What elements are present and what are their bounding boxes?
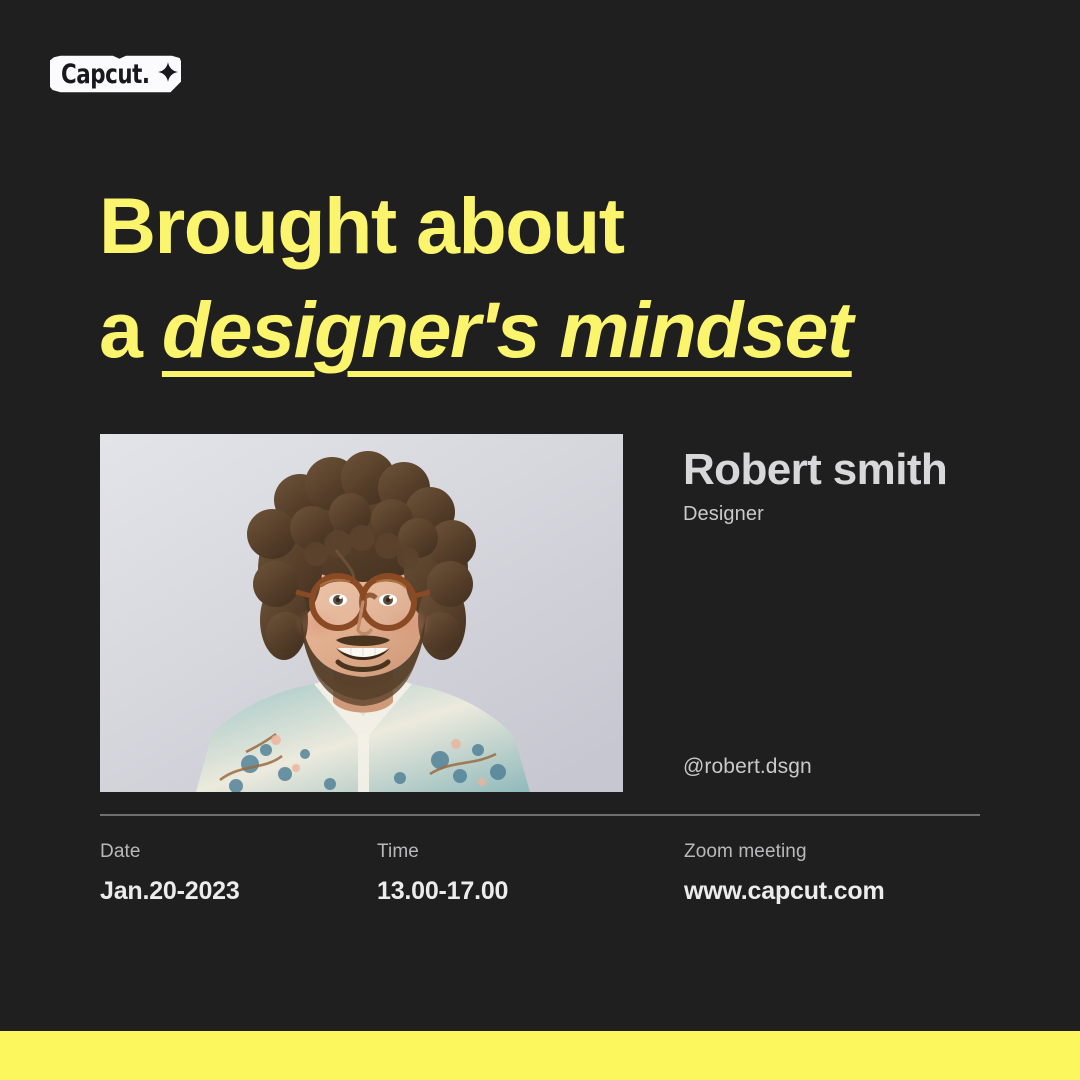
bottom-accent-bar xyxy=(0,1031,1080,1080)
info-column-date: Date Jan.20-2023 xyxy=(100,841,377,906)
speaker-handle[interactable]: @robert.dsgn xyxy=(683,755,812,779)
sparkle-star-icon xyxy=(158,62,178,87)
capcut-logo-badge[interactable]: Capcut. xyxy=(50,55,181,93)
info-value-date: Jan.20-2023 xyxy=(100,876,377,906)
event-poster: Capcut. Brought about a designer's minds… xyxy=(0,0,1080,1080)
capcut-wordmark: Capcut. xyxy=(61,61,150,88)
headline-line-1: Brought about xyxy=(99,170,979,282)
headline-line-2: a designer's mindset xyxy=(99,274,979,386)
speaker-portrait xyxy=(100,434,623,792)
speaker-role: Designer xyxy=(683,503,1003,526)
speaker-name: Robert smith xyxy=(683,446,1003,494)
info-divider xyxy=(100,814,980,816)
info-label-zoom-meeting: Zoom meeting xyxy=(684,841,980,864)
info-value-zoom-meeting[interactable]: www.capcut.com xyxy=(684,876,980,906)
info-label-time: Time xyxy=(377,841,684,864)
event-details-row: Date Jan.20-2023 Time 13.00-17.00 Zoom m… xyxy=(100,841,980,906)
speaker-info: Robert smith Designer xyxy=(683,446,1003,526)
headline-line-2-prefix: a xyxy=(99,285,162,374)
headline: Brought about a designer's mindset xyxy=(99,170,979,386)
info-column-time: Time 13.00-17.00 xyxy=(377,841,684,906)
headline-emphasis: designer's mindset xyxy=(162,285,852,374)
info-label-date: Date xyxy=(100,841,377,864)
info-value-time: 13.00-17.00 xyxy=(377,876,684,906)
info-column-zoom-meeting: Zoom meeting www.capcut.com xyxy=(684,841,980,906)
